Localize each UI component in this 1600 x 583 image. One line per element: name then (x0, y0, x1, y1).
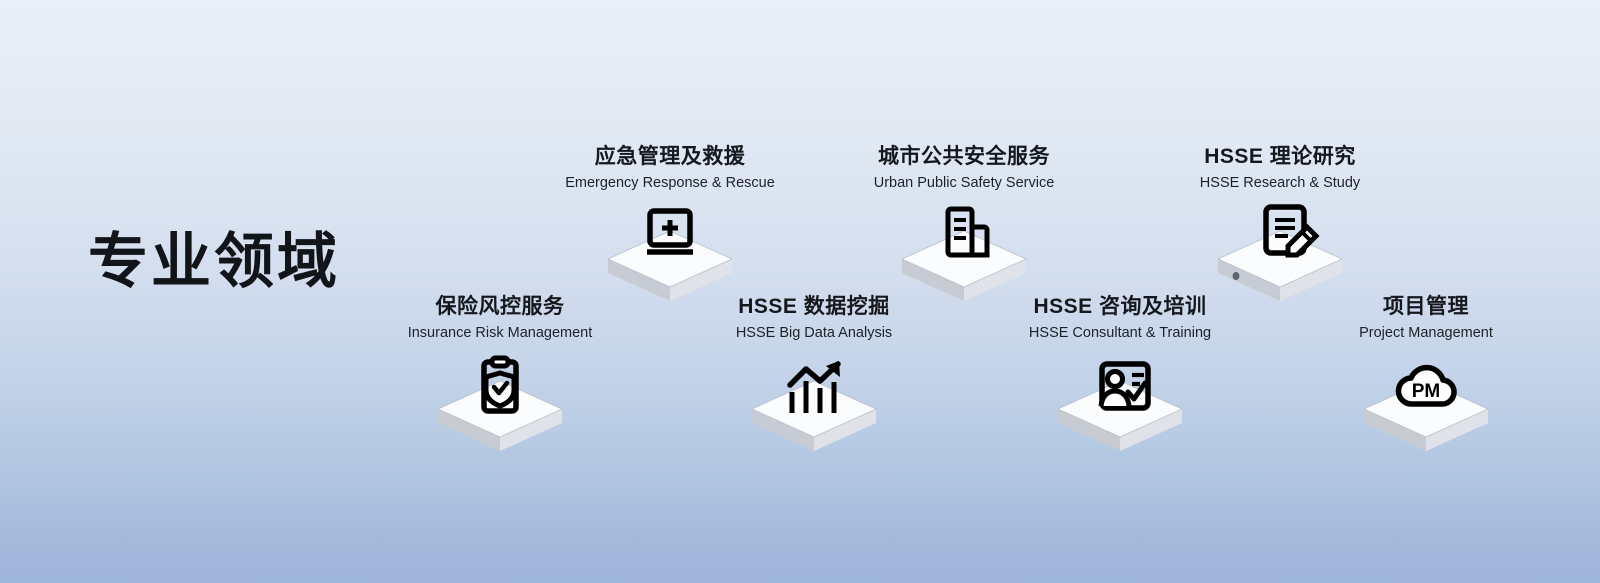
domain-card-hsse-consultant[interactable]: HSSE 咨询及培训 HSSE Consultant & Training (990, 294, 1250, 461)
domain-card-emergency-response[interactable]: 应急管理及救援 Emergency Response & Rescue (540, 144, 800, 311)
bar-chart-trend-icon (776, 355, 852, 431)
domain-card-urban-public-safety[interactable]: 城市公共安全服务 Urban Public Safety Service (834, 144, 1094, 311)
cloud-pm-icon: PM (1388, 355, 1464, 431)
card-title-cn: 项目管理 (1296, 294, 1556, 321)
card-title-cn: HSSE 理论研究 (1150, 144, 1410, 171)
document-pencil-icon (1250, 199, 1326, 275)
card-labels: HSSE 数据挖掘 HSSE Big Data Analysis (684, 294, 944, 343)
card-icon-area (370, 351, 630, 461)
city-buildings-icon (926, 199, 1002, 275)
card-labels: 保险风控服务 Insurance Risk Management (370, 294, 630, 343)
card-title-en: Project Management (1296, 324, 1556, 343)
domain-card-insurance-risk[interactable]: 保险风控服务 Insurance Risk Management (370, 294, 630, 461)
page-title: 专业领域 (88, 232, 340, 292)
card-title-cn: HSSE 咨询及培训 (990, 294, 1250, 321)
card-title-cn: 保险风控服务 (370, 294, 630, 321)
card-title-en: HSSE Consultant & Training (990, 324, 1250, 343)
card-icon-area (990, 351, 1250, 461)
card-labels: 城市公共安全服务 Urban Public Safety Service (834, 144, 1094, 193)
card-labels: HSSE 理论研究 HSSE Research & Study (1150, 144, 1410, 193)
clipboard-shield-check-icon (462, 355, 538, 431)
card-title-en: HSSE Big Data Analysis (684, 324, 944, 343)
card-labels: 项目管理 Project Management (1296, 294, 1556, 343)
card-title-cn: HSSE 数据挖掘 (684, 294, 944, 321)
card-labels: 应急管理及救援 Emergency Response & Rescue (540, 144, 800, 193)
first-aid-kit-icon (632, 199, 708, 275)
id-card-person-check-icon (1088, 355, 1164, 431)
card-title-en: Emergency Response & Rescue (540, 174, 800, 193)
card-title-cn: 应急管理及救援 (540, 144, 800, 171)
card-title-cn: 城市公共安全服务 (834, 144, 1094, 171)
card-title-en: Urban Public Safety Service (834, 174, 1094, 193)
cloud-pm-label: PM (1412, 381, 1441, 402)
card-icon-area (684, 351, 944, 461)
domain-card-hsse-big-data[interactable]: HSSE 数据挖掘 HSSE Big Data Analysis (684, 294, 944, 461)
domain-card-hsse-research[interactable]: HSSE 理论研究 HSSE Research & Study (1150, 144, 1410, 311)
domain-card-project-management[interactable]: 项目管理 Project Management PM (1296, 294, 1556, 461)
card-labels: HSSE 咨询及培训 HSSE Consultant & Training (990, 294, 1250, 343)
card-title-en: HSSE Research & Study (1150, 174, 1410, 193)
card-icon-area: PM (1296, 351, 1556, 461)
card-title-en: Insurance Risk Management (370, 324, 630, 343)
